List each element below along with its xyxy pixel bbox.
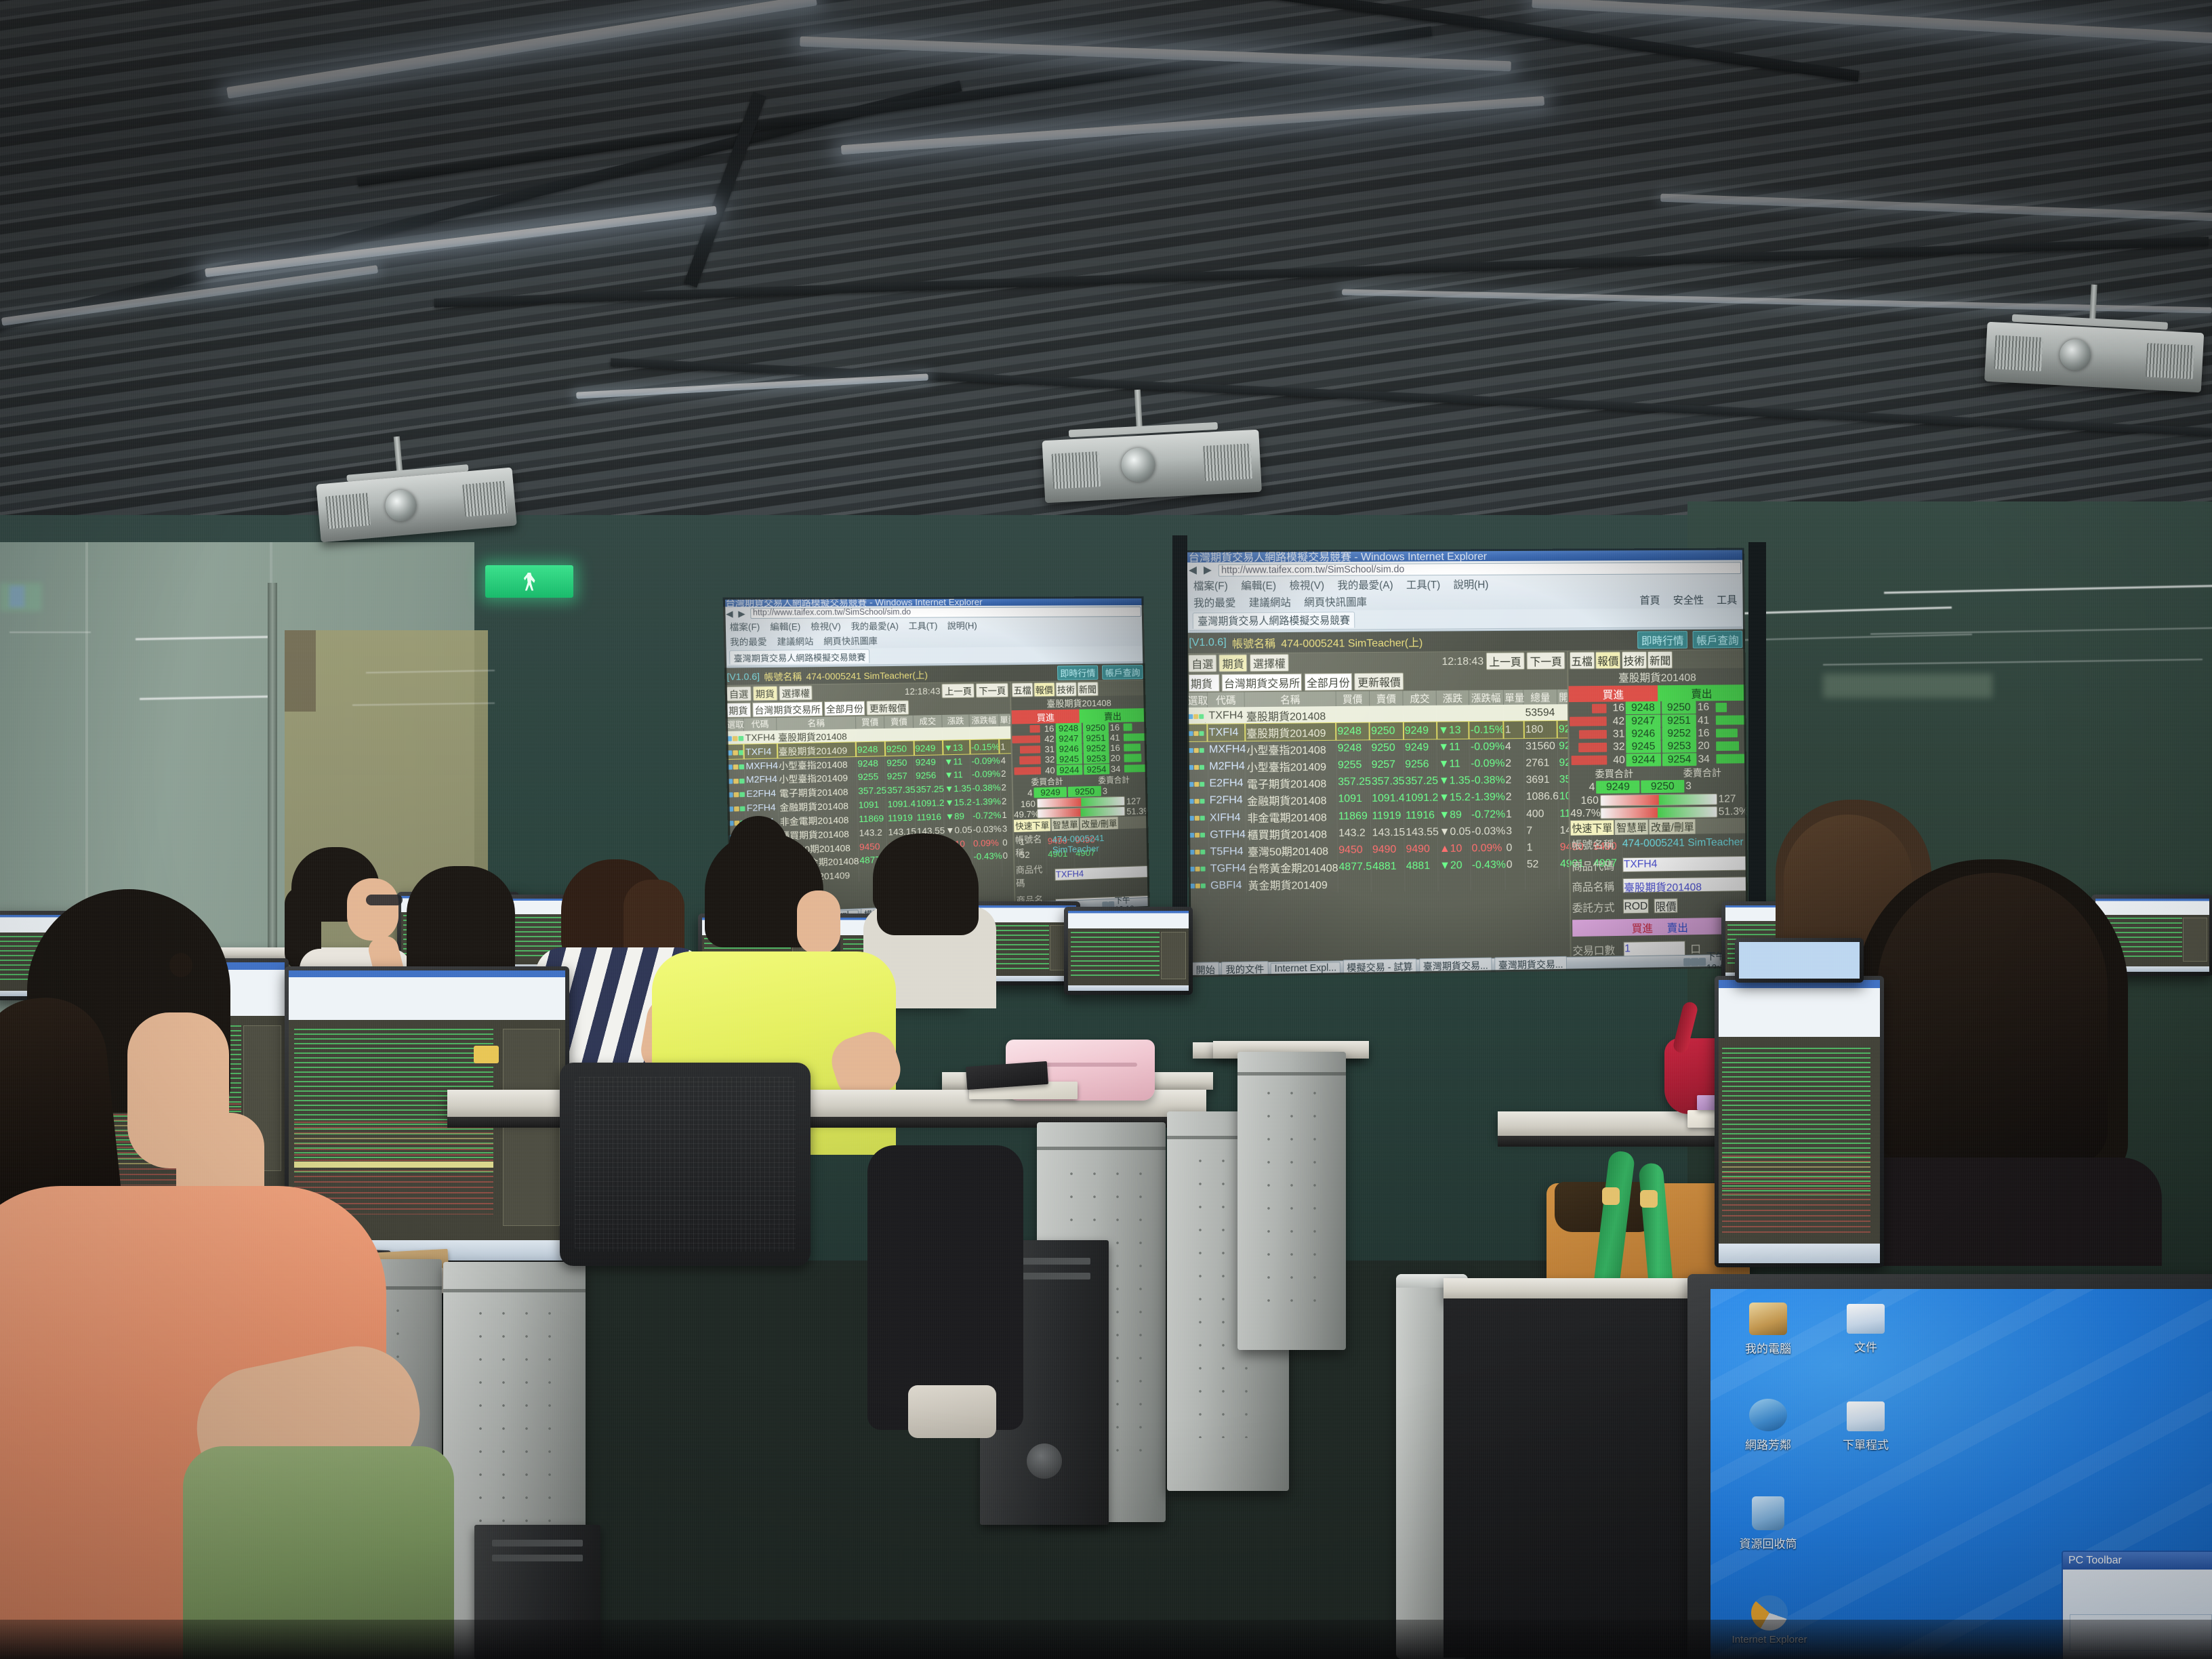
desktop-icon-my-computer[interactable]: 我的電腦 — [1728, 1303, 1808, 1356]
desktop-icon-network[interactable]: 網路芳鄰 — [1728, 1399, 1808, 1452]
shoe — [908, 1385, 996, 1438]
monitor-right-rear — [1735, 938, 1864, 983]
desktop-icon-recycle-bin[interactable]: 資源回收筒 — [1728, 1496, 1808, 1551]
folder-icon — [1847, 1304, 1885, 1334]
recycle-bin-icon — [1752, 1496, 1784, 1530]
network-icon — [1749, 1399, 1787, 1431]
chart-marker-icon — [474, 1046, 499, 1063]
cpu-pedestal-5 — [1237, 1052, 1346, 1350]
desktop-icon-label: 資源回收筒 — [1728, 1534, 1808, 1551]
desktop-icon-label: 文件 — [1826, 1338, 1906, 1355]
monitor-back-5 — [1064, 907, 1193, 995]
ceiling-projector — [1984, 313, 2205, 406]
person-back-right — [867, 840, 989, 989]
monitor-desktop-foreground: 我的電腦 文件 網路芳鄰 下單程式 資源回收筒 Internet Explore… — [1687, 1274, 2212, 1659]
chair-center[interactable] — [560, 1063, 811, 1266]
desktop-icon-label: 我的電腦 — [1728, 1339, 1808, 1356]
trading-classroom-photo: 台灣期貨交易人網路模擬交易競賽 - Windows Internet Explo… — [0, 0, 2212, 1659]
projector-lens-icon — [2059, 339, 2091, 371]
strap-clasp — [1602, 1187, 1620, 1205]
strap-clasp — [1640, 1190, 1658, 1208]
exit-sign — [485, 565, 573, 598]
hair-tie — [169, 953, 192, 977]
monitor-screen[interactable] — [1068, 911, 1189, 991]
projection-screen-right: 台灣期貨交易人網路模擬交易競賽 - Windows Internet Explo… — [1185, 548, 1748, 977]
projector-lens-icon — [1121, 447, 1157, 483]
person-far-right — [1857, 859, 2142, 1239]
desktop-icon-app[interactable]: 下單程式 — [1826, 1401, 1906, 1452]
ceiling-projector — [1042, 420, 1263, 520]
running-man-icon — [524, 573, 535, 591]
monitor-screen[interactable] — [1719, 980, 1880, 1263]
monitor-right-trading — [1715, 976, 1884, 1267]
desktop-icon-label: 網路芳鄰 — [1728, 1435, 1808, 1452]
desk-panel-right — [1443, 1298, 1701, 1658]
pc-toolbar-title: PC Toolbar — [2063, 1552, 2212, 1570]
app-icon — [1847, 1401, 1885, 1431]
desk-bottom-right — [1443, 1278, 1701, 1301]
projector-lens-icon — [384, 489, 417, 523]
computer-icon — [1749, 1303, 1787, 1335]
ceiling-projector — [315, 459, 518, 558]
foreground-shadow — [0, 1620, 2212, 1659]
desktop-icon-label: 下單程式 — [1826, 1435, 1906, 1452]
desktop-icon-documents[interactable]: 文件 — [1826, 1304, 1906, 1355]
